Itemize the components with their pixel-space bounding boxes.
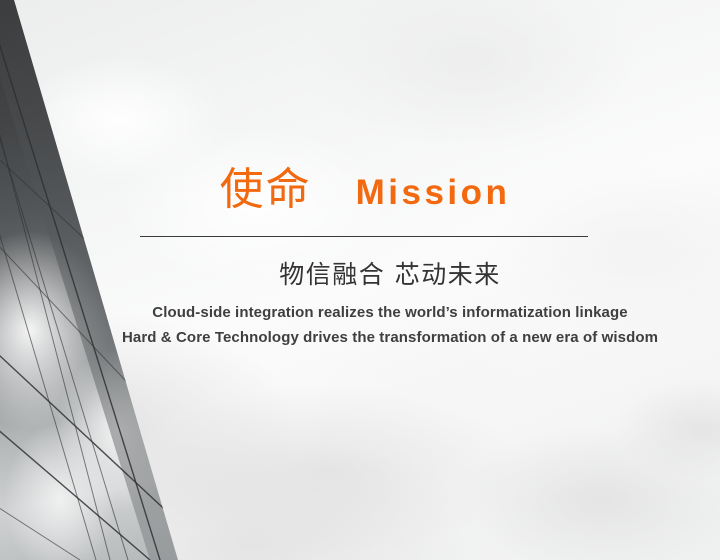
title-english: Mission — [356, 175, 511, 210]
title-chinese: 使命 — [220, 168, 312, 212]
title-divider — [140, 236, 588, 237]
mission-banner: 使命 Mission 物信融合 芯动未来 Cloud-side integrat… — [0, 0, 720, 560]
banner-content: 使命 Mission 物信融合 芯动未来 Cloud-side integrat… — [0, 0, 720, 560]
description-block: Cloud-side integration realizes the worl… — [90, 300, 690, 350]
subtitle-chinese: 物信融合 芯动未来 — [140, 258, 640, 292]
description-line-1: Cloud-side integration realizes the worl… — [90, 300, 690, 325]
banner-title: 使命 Mission — [140, 168, 590, 212]
description-line-2: Hard & Core Technology drives the transf… — [90, 325, 690, 350]
